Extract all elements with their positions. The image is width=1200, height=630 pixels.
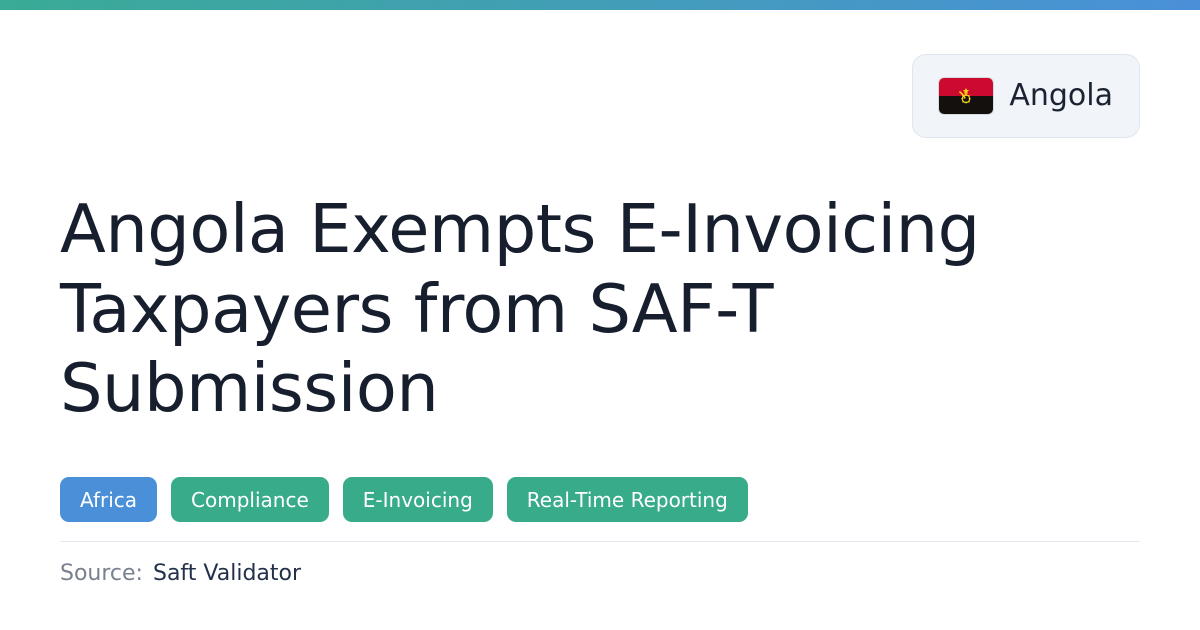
tag-e-invoicing[interactable]: E-Invoicing: [343, 477, 493, 522]
source-label: Source:: [60, 561, 143, 587]
tag-label: Compliance: [191, 490, 309, 510]
footer-divider: [60, 541, 1140, 542]
tag-africa[interactable]: Africa: [60, 477, 157, 522]
news-card: Angola Angola Exempts E-Invoicing Taxpay…: [0, 0, 1200, 630]
country-name: Angola: [1009, 81, 1113, 111]
tag-compliance[interactable]: Compliance: [171, 477, 329, 522]
source-value: Saft Validator: [153, 561, 301, 587]
tag-list: Africa Compliance E-Invoicing Real-Time …: [60, 477, 748, 522]
angola-flag-icon: [939, 78, 993, 114]
tag-label: Real-Time Reporting: [527, 490, 728, 510]
top-accent-bar: [0, 0, 1200, 10]
card-content: Angola Exempts E-Invoicing Taxpayers fro…: [60, 190, 1140, 429]
page-title: Angola Exempts E-Invoicing Taxpayers fro…: [60, 190, 990, 429]
source-row: Source: Saft Validator: [60, 561, 301, 587]
country-badge[interactable]: Angola: [912, 54, 1140, 138]
tag-label: Africa: [80, 490, 137, 510]
tag-real-time-reporting[interactable]: Real-Time Reporting: [507, 477, 748, 522]
tag-label: E-Invoicing: [363, 490, 473, 510]
